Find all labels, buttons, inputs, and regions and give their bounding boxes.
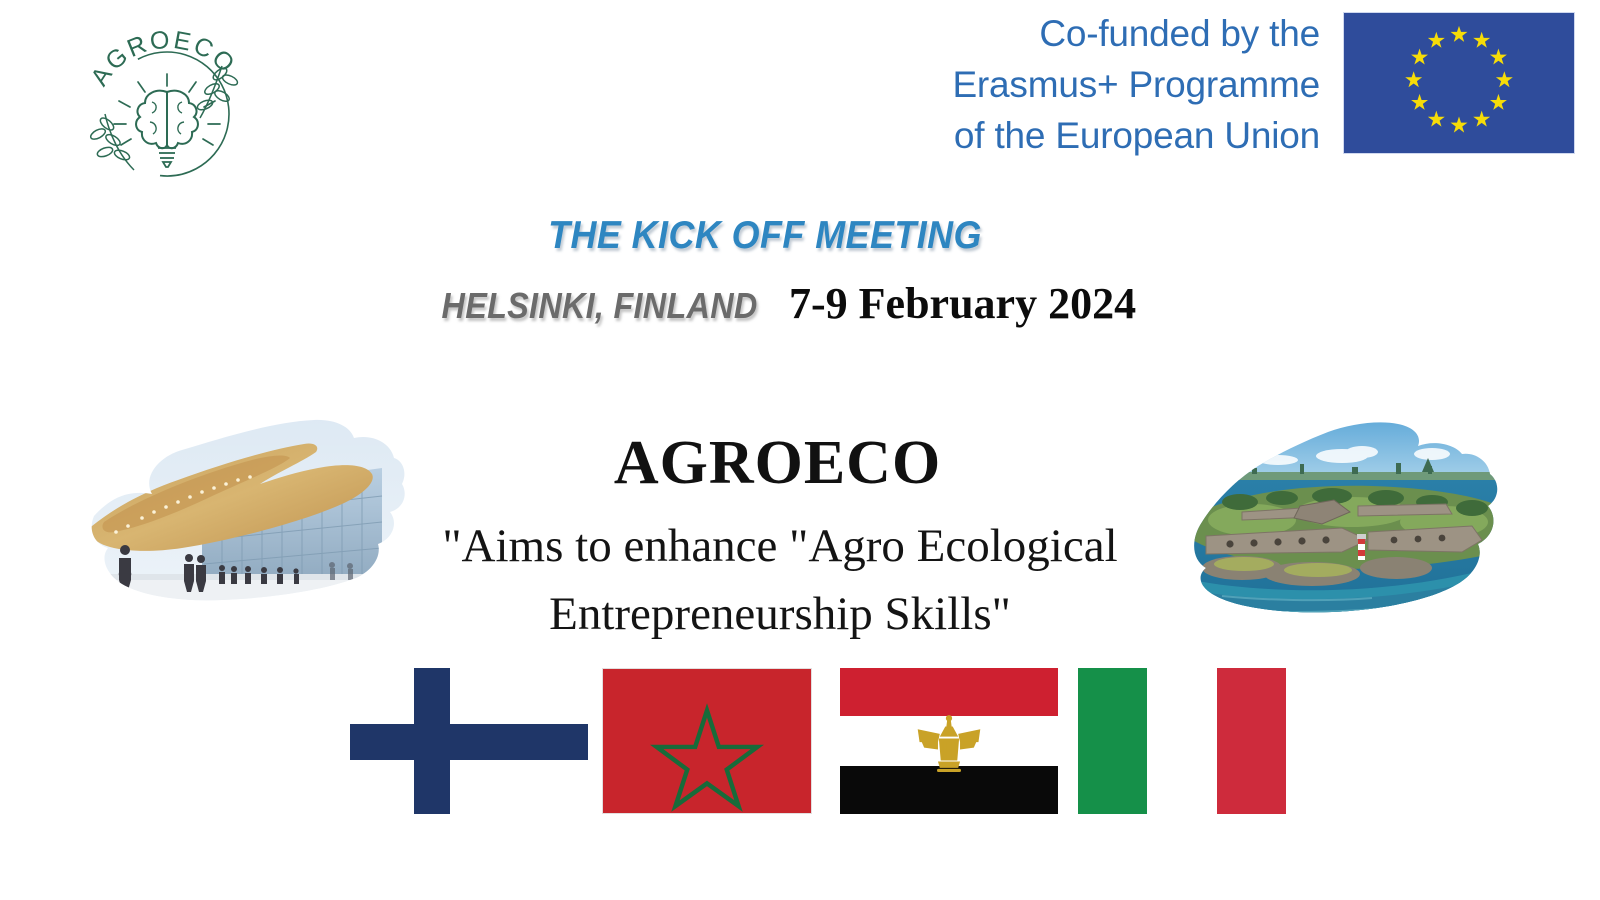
egypt-eagle-of-saladin-icon xyxy=(840,668,1058,814)
erasmus-line-1: Co-funded by the xyxy=(860,8,1320,59)
egypt-flag xyxy=(840,668,1058,814)
helsinki-oodi-library-photo xyxy=(82,398,412,616)
agroeco-logo-icon: AGROECO xyxy=(72,14,262,189)
erasmus-line-3: of the European Union xyxy=(860,110,1320,161)
suomenlinna-photo-graphic xyxy=(1182,400,1512,628)
european-union-flag xyxy=(1343,12,1575,154)
italy-flag-red-band xyxy=(1217,668,1286,814)
agroeco-logo-arc-text: AGROECO xyxy=(85,26,241,91)
kickoff-meeting-title: THE KICK OFF MEETING xyxy=(61,214,1469,258)
oodi-photo-graphic xyxy=(82,398,412,616)
partner-country-flags xyxy=(350,668,1300,820)
suomenlinna-fortress-photo xyxy=(1182,400,1512,628)
meeting-location: HELSINKI, FINLAND xyxy=(441,285,757,327)
project-tagline-line-1: "Aims to enhance "Agro Ecological xyxy=(430,512,1130,580)
agroeco-logo: AGROECO xyxy=(72,14,262,189)
finland-flag-icon xyxy=(350,668,588,814)
poster-canvas: AGROECO xyxy=(0,0,1600,900)
project-tagline-line-2: Entrepreneurship Skills" xyxy=(430,580,1130,648)
morocco-flag xyxy=(602,668,812,814)
project-tagline: "Aims to enhance "Agro Ecological Entrep… xyxy=(430,512,1130,648)
location-date-row: HELSINKI, FINLAND 7-9 February 2024 xyxy=(0,278,1560,329)
finland-flag xyxy=(350,668,588,814)
morocco-flag-icon xyxy=(603,669,811,813)
italy-flag xyxy=(1078,668,1286,814)
eu-stars-icon xyxy=(1344,13,1574,153)
italy-flag-green-band xyxy=(1078,668,1147,814)
italy-flag-white-band xyxy=(1147,668,1216,814)
meeting-date: 7-9 February 2024 xyxy=(789,278,1136,329)
erasmus-funding-statement: Co-funded by the Erasmus+ Programme of t… xyxy=(860,8,1320,161)
erasmus-line-2: Erasmus+ Programme xyxy=(860,59,1320,110)
